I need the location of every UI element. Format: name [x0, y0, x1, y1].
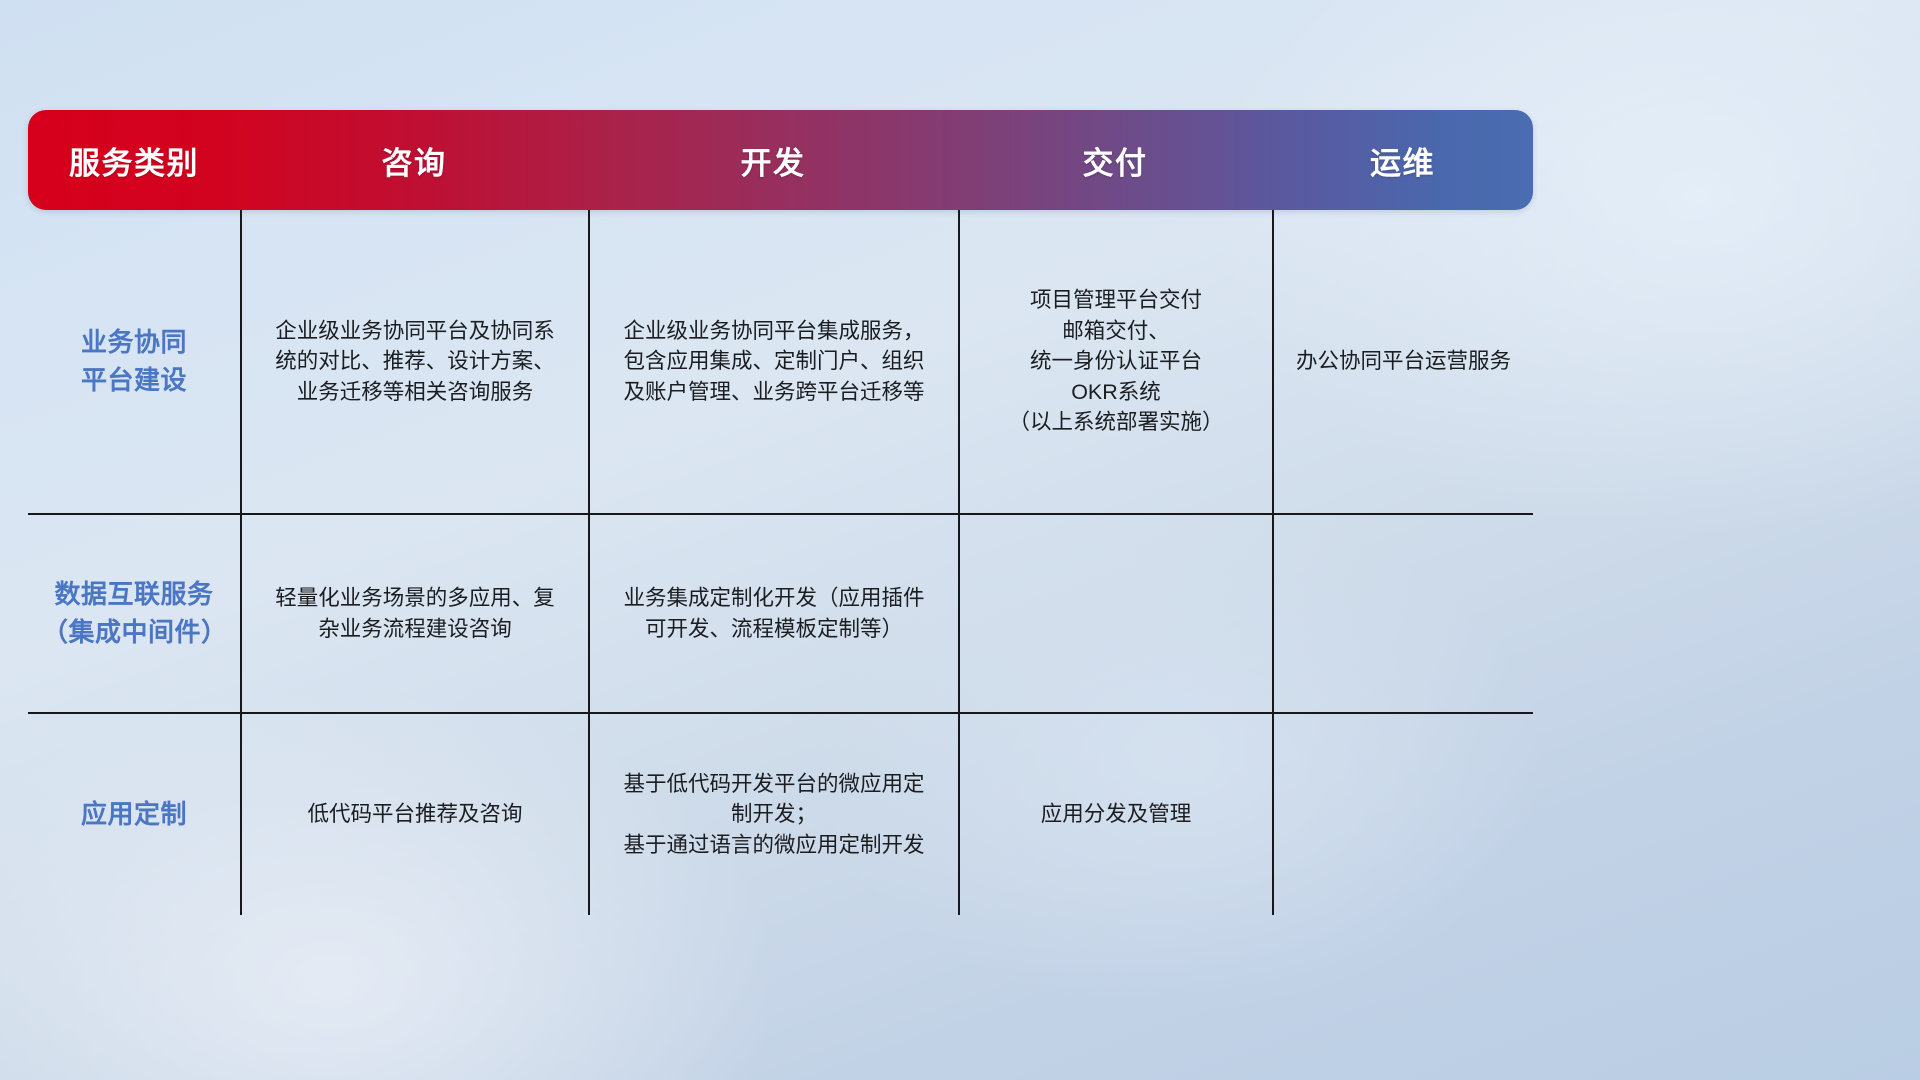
table-body: 业务协同 平台建设 企业级业务协同平台及协同系 统的对比、推荐、设计方案、 业务…	[28, 210, 1533, 915]
cell-consulting: 低代码平台推荐及咨询	[240, 714, 588, 915]
column-header-label: 交付	[1083, 138, 1148, 183]
cell-delivery: 应用分发及管理	[958, 714, 1272, 915]
table-header-row: 服务类别 咨询 开发 交付 运维	[28, 110, 1533, 210]
column-header-service-category: 服务类别	[28, 110, 240, 210]
column-header-label: 服务类别	[69, 138, 199, 183]
column-header-label: 开发	[741, 138, 806, 183]
cell-consulting: 企业级业务协同平台及协同系 统的对比、推荐、设计方案、 业务迁移等相关咨询服务	[240, 210, 588, 513]
table-row: 应用定制 低代码平台推荐及咨询 基于低代码开发平台的微应用定 制开发； 基于通过…	[28, 712, 1533, 915]
table-row: 数据互联服务 （集成中间件） 轻量化业务场景的多应用、复 杂业务流程建设咨询 业…	[28, 513, 1533, 712]
column-header-label: 运维	[1370, 138, 1435, 183]
column-header-development: 开发	[588, 110, 958, 210]
cell-consulting: 轻量化业务场景的多应用、复 杂业务流程建设咨询	[240, 515, 588, 712]
cell-operations	[1272, 714, 1533, 915]
cell-delivery: 项目管理平台交付 邮箱交付、 统一身份认证平台 OKR系统 （以上系统部署实施）	[958, 210, 1272, 513]
column-header-label: 咨询	[382, 138, 447, 183]
column-header-delivery: 交付	[958, 110, 1272, 210]
row-category-label: 业务协同 平台建设	[28, 210, 240, 513]
column-header-operations: 运维	[1272, 110, 1533, 210]
column-header-consulting: 咨询	[240, 110, 588, 210]
cell-operations	[1272, 515, 1533, 712]
row-category-label: 数据互联服务 （集成中间件）	[28, 515, 240, 712]
cell-delivery	[958, 515, 1272, 712]
cell-development: 企业级业务协同平台集成服务， 包含应用集成、定制门户、组织 及账户管理、业务跨平…	[588, 210, 958, 513]
row-category-label: 应用定制	[28, 714, 240, 915]
cell-development: 业务集成定制化开发（应用插件 可开发、流程模板定制等）	[588, 515, 958, 712]
slide-canvas: 服务类别 咨询 开发 交付 运维 业务协同 平台建设 企业级业务协同平台及协同系…	[0, 0, 1920, 1080]
cell-development: 基于低代码开发平台的微应用定 制开发； 基于通过语言的微应用定制开发	[588, 714, 958, 915]
table-row: 业务协同 平台建设 企业级业务协同平台及协同系 统的对比、推荐、设计方案、 业务…	[28, 210, 1533, 513]
service-matrix-table: 服务类别 咨询 开发 交付 运维 业务协同 平台建设 企业级业务协同平台及协同系…	[28, 110, 1533, 915]
cell-operations: 办公协同平台运营服务	[1272, 210, 1533, 513]
